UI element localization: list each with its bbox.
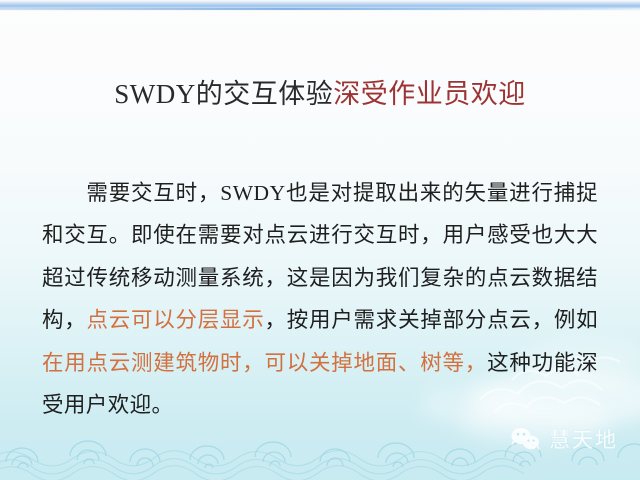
body-segment-5-highlight: 在用点云测建筑物时，可以关掉地面、树等， xyxy=(42,351,487,375)
watermark: 慧天地 xyxy=(508,424,618,454)
slide-title: SWDY的交互体验深受作业员欢迎 xyxy=(0,78,640,110)
slide-body-paragraph: 需要交互时，SWDY也是对提取出来的矢量进行捕捉和交互。即使在需要对点云进行交互… xyxy=(42,172,598,427)
title-red-segment: 深受作业员欢迎 xyxy=(333,79,526,109)
wechat-icon xyxy=(508,427,542,452)
body-segment-1-latin: SWDY xyxy=(220,181,285,205)
body-segment-4: ，按用户需求关掉部分点云，例如 xyxy=(265,308,598,332)
top-accent-line xyxy=(0,8,640,10)
title-dark-segment: SWDY的交互体验 xyxy=(114,79,333,109)
watermark-label: 慧天地 xyxy=(549,424,618,454)
body-segment-3-highlight: 点云可以分层显示 xyxy=(87,308,265,332)
body-segment-0: 需要交互时， xyxy=(86,181,220,205)
slide-canvas: SWDY的交互体验深受作业员欢迎 需要交互时，SWDY也是对提取出来的矢量进行捕… xyxy=(0,0,640,480)
